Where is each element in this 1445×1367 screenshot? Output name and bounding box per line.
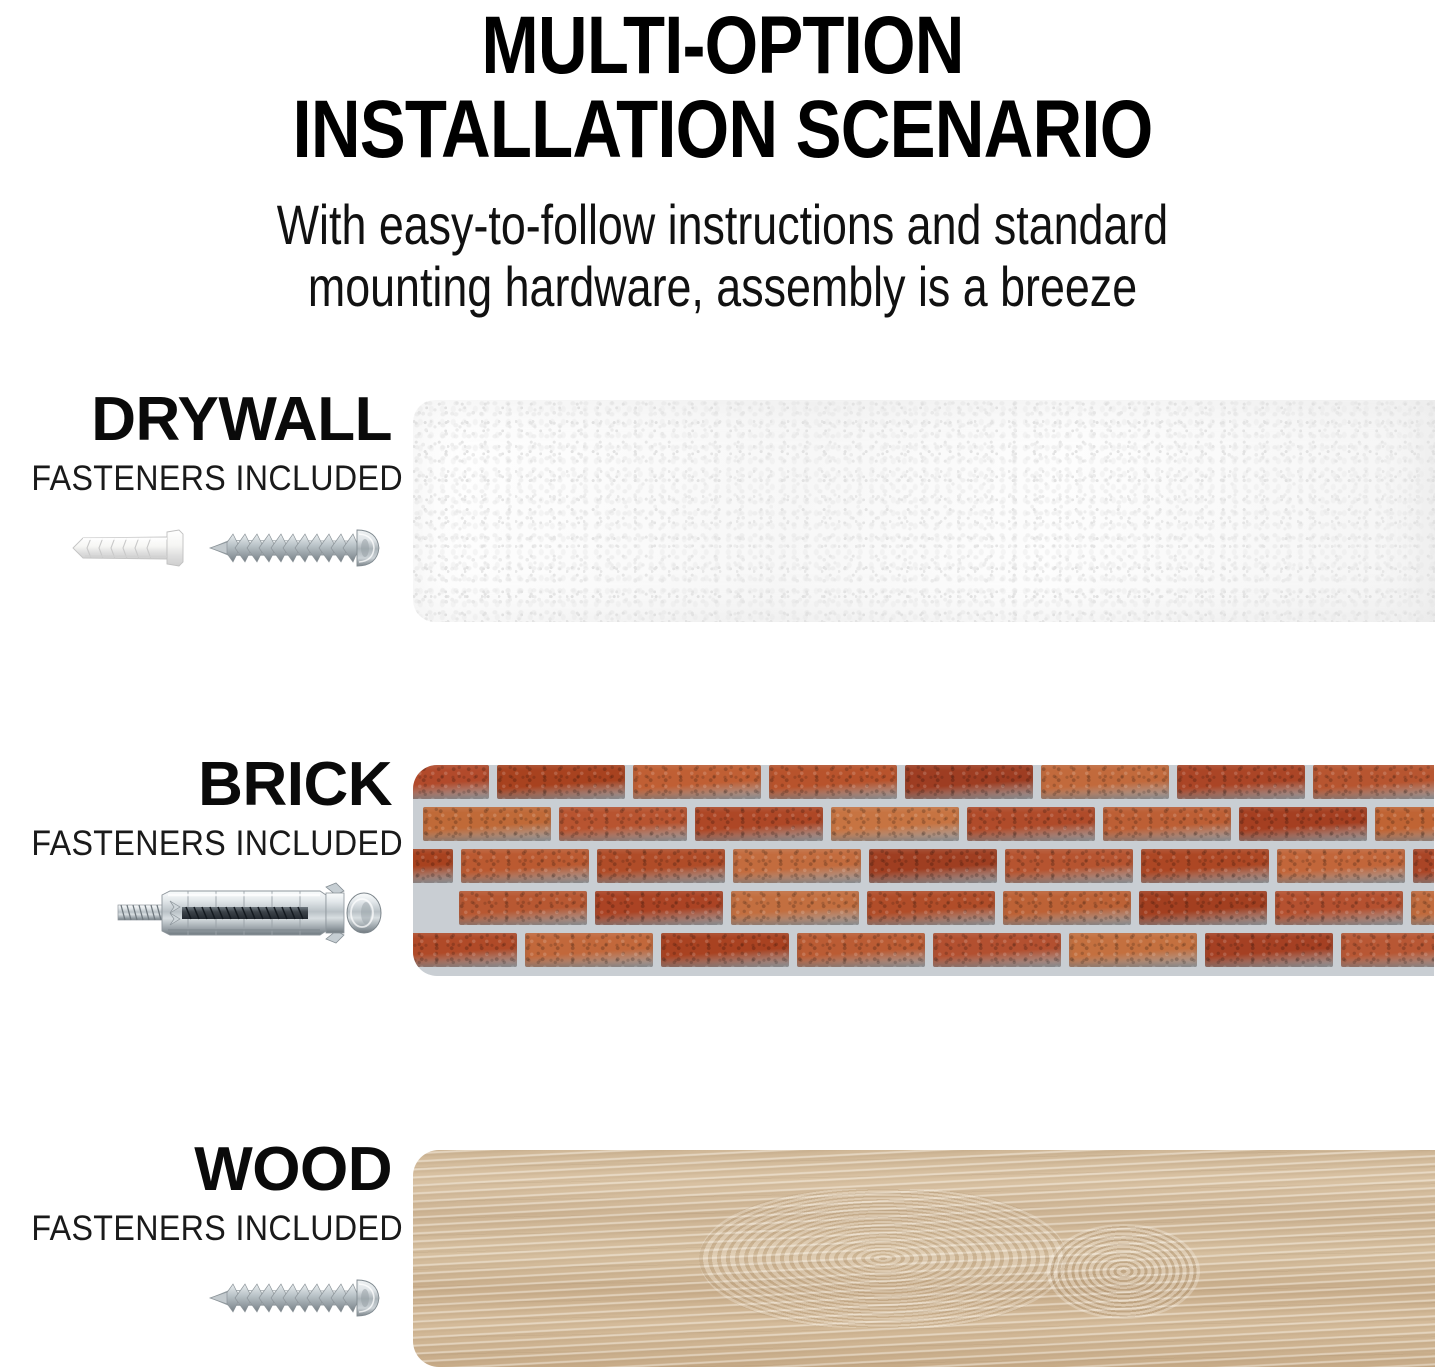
brick (1141, 849, 1269, 883)
brick (1413, 849, 1434, 883)
material-row-drywall: DRYWALL FASTENERS INCLUDED (0, 388, 1445, 638)
drywall-hardware-group (0, 512, 392, 584)
brick (1341, 933, 1434, 967)
drywall-surface-panel (413, 400, 1435, 622)
wood-screw-icon (207, 525, 392, 571)
brick-row (413, 891, 1434, 933)
material-name-wood: WOOD (0, 1138, 392, 1202)
material-row-brick: BRICK FASTENERS INCLUDED (0, 753, 1445, 1003)
brick (595, 891, 723, 925)
brick (905, 765, 1033, 799)
brick (413, 765, 489, 799)
brick (1139, 891, 1267, 925)
fasteners-included-brick: FASTENERS INCLUDED (31, 825, 392, 863)
brick (731, 891, 859, 925)
brick (1103, 807, 1231, 841)
brick (661, 933, 789, 967)
brick-row (413, 933, 1434, 975)
brick (1005, 849, 1133, 883)
brick (769, 765, 897, 799)
brick (1275, 891, 1403, 925)
brick-row (413, 849, 1434, 891)
brick (1177, 765, 1305, 799)
brick (867, 891, 995, 925)
brick (1411, 891, 1434, 925)
header: MULTI-OPTION INSTALLATION SCENARIO With … (0, 0, 1445, 318)
fasteners-included-wood: FASTENERS INCLUDED (31, 1210, 392, 1248)
wood-screw-icon (207, 1275, 392, 1321)
brick (1069, 933, 1197, 967)
page-title: MULTI-OPTION INSTALLATION SCENARIO (116, 0, 1330, 172)
wood-label-column: WOOD FASTENERS INCLUDED (0, 1138, 392, 1367)
brick (413, 933, 517, 967)
material-row-wood: WOOD FASTENERS INCLUDED (0, 1138, 1445, 1367)
brick (459, 891, 587, 925)
brick (1239, 807, 1367, 841)
brick (413, 849, 453, 883)
subtitle-line-2: mounting hardware, assembly is a breeze (145, 256, 1301, 318)
subtitle-line-1: With easy-to-follow instructions and sta… (145, 194, 1301, 256)
brick (967, 807, 1095, 841)
brick-row (413, 765, 1434, 807)
molly-bolt-anchor-icon (112, 877, 392, 949)
fasteners-included-drywall: FASTENERS INCLUDED (31, 460, 392, 498)
title-line-1: MULTI-OPTION (116, 4, 1330, 88)
brick (1313, 765, 1434, 799)
brick (695, 807, 823, 841)
brick (525, 933, 653, 967)
brick (1041, 765, 1169, 799)
brick (1003, 891, 1131, 925)
brick (633, 765, 761, 799)
brick (597, 849, 725, 883)
material-name-drywall: DRYWALL (0, 388, 392, 452)
brick (497, 765, 625, 799)
brick (933, 933, 1061, 967)
brick (733, 849, 861, 883)
page-subtitle: With easy-to-follow instructions and sta… (145, 194, 1301, 318)
wood-hardware-group (0, 1262, 392, 1334)
wood-surface-panel (413, 1150, 1435, 1367)
title-line-2: INSTALLATION SCENARIO (116, 88, 1330, 172)
brick (423, 807, 551, 841)
brick (831, 807, 959, 841)
brick-surface-panel (413, 765, 1434, 976)
brick-row (413, 807, 1434, 849)
brick-label-column: BRICK FASTENERS INCLUDED (0, 753, 392, 1003)
brick (1375, 807, 1434, 841)
brick (869, 849, 997, 883)
brick (461, 849, 589, 883)
drywall-label-column: DRYWALL FASTENERS INCLUDED (0, 388, 392, 638)
brick (1277, 849, 1405, 883)
brick (1205, 933, 1333, 967)
brick (797, 933, 925, 967)
material-name-brick: BRICK (0, 753, 392, 817)
plastic-wall-anchor-icon (67, 526, 197, 570)
brick-hardware-group (0, 877, 392, 949)
brick (559, 807, 687, 841)
